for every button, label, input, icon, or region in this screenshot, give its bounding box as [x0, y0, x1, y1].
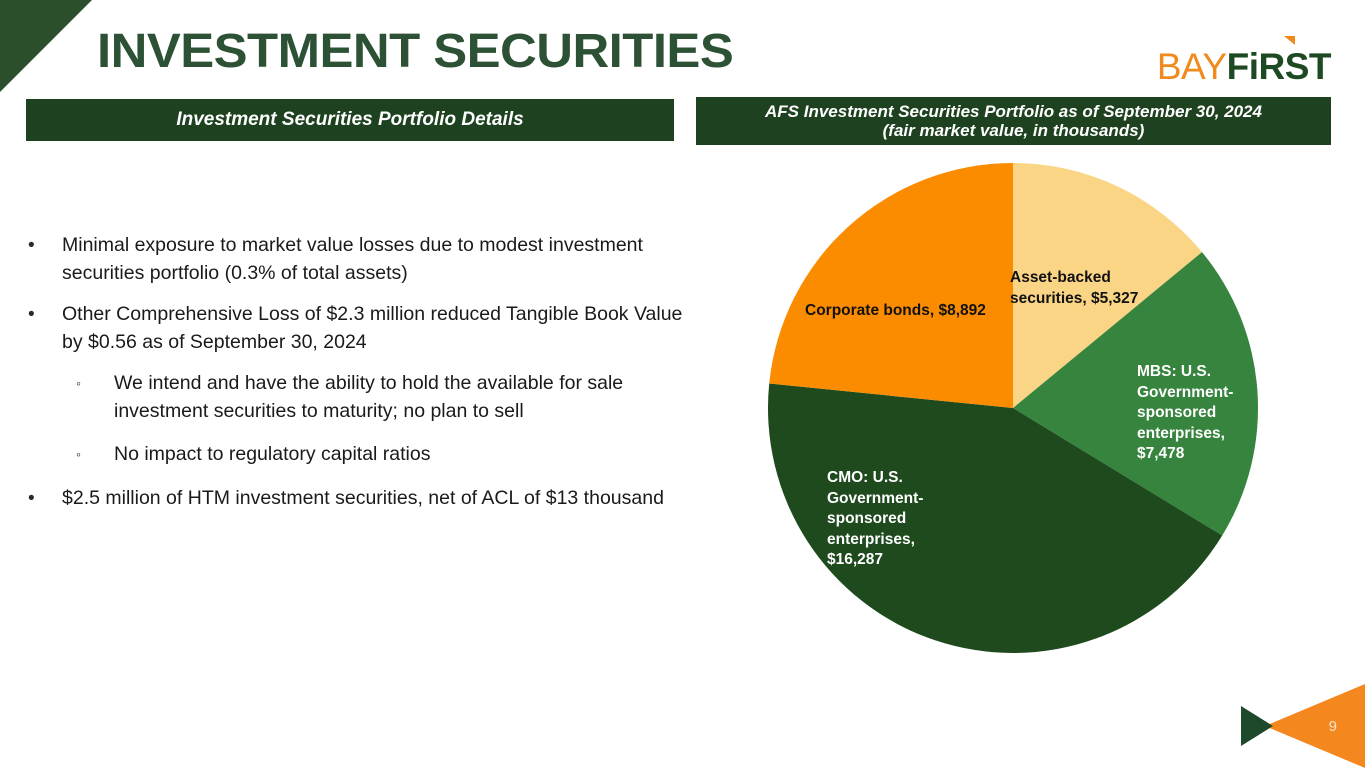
footer-orange-triangle: [1265, 684, 1365, 768]
banner-portfolio-details: Investment Securities Portfolio Details: [26, 99, 674, 141]
list-item: • Minimal exposure to market value losse…: [28, 232, 688, 287]
page-number: 9: [1329, 719, 1337, 734]
logo-text-first: FiRST: [1227, 46, 1331, 87]
bullet-marker-icon: •: [28, 301, 62, 329]
bullet-marker-icon: ◦: [76, 441, 114, 469]
page-title: INVESTMENT SECURITIES: [97, 28, 733, 76]
list-item-text: $2.5 million of HTM investment securitie…: [62, 485, 688, 513]
banner-right-label: AFS Investment Securities Portfolio as o…: [765, 102, 1262, 140]
bayfirst-logo: BAYFiRST: [1157, 48, 1331, 85]
list-item-text: No impact to regulatory capital ratios: [114, 441, 688, 469]
list-item-text: Other Comprehensive Loss of $2.3 million…: [62, 301, 688, 356]
pie-label-mbs: MBS: U.S. Government- sponsored enterpri…: [1137, 362, 1257, 465]
list-item: ◦ We intend and have the ability to hold…: [28, 370, 688, 425]
pie-label-asset-backed: Asset-backed securities, $5,327: [1010, 268, 1160, 309]
list-item-text: We intend and have the ability to hold t…: [114, 370, 688, 425]
list-item: ◦ No impact to regulatory capital ratios: [28, 441, 688, 469]
bullet-marker-icon: •: [28, 485, 62, 513]
bullet-list: • Minimal exposure to market value losse…: [28, 232, 688, 526]
pie-label-corporate-bonds: Corporate bonds, $8,892: [805, 301, 1015, 322]
pie-slice: [769, 163, 1013, 408]
banner-chart-title: AFS Investment Securities Portfolio as o…: [696, 97, 1331, 145]
bullet-marker-icon: ◦: [76, 370, 114, 398]
logo-first-label: FiRST: [1227, 46, 1331, 87]
logo-text-bay: BAY: [1157, 46, 1227, 87]
list-item: • $2.5 million of HTM investment securit…: [28, 485, 688, 513]
logo-flag-icon: [1284, 36, 1295, 45]
bullet-marker-icon: •: [28, 232, 62, 260]
list-item-text: Minimal exposure to market value losses …: [62, 232, 688, 287]
footer-green-triangle: [1241, 706, 1273, 746]
investment-securities-pie-chart: Asset-backed securities, $5,327 MBS: U.S…: [768, 163, 1258, 653]
corner-decoration-triangle: [0, 0, 92, 92]
list-item: • Other Comprehensive Loss of $2.3 milli…: [28, 301, 688, 356]
banner-left-label: Investment Securities Portfolio Details: [176, 109, 523, 130]
pie-label-cmo: CMO: U.S. Government- sponsored enterpri…: [827, 468, 957, 571]
